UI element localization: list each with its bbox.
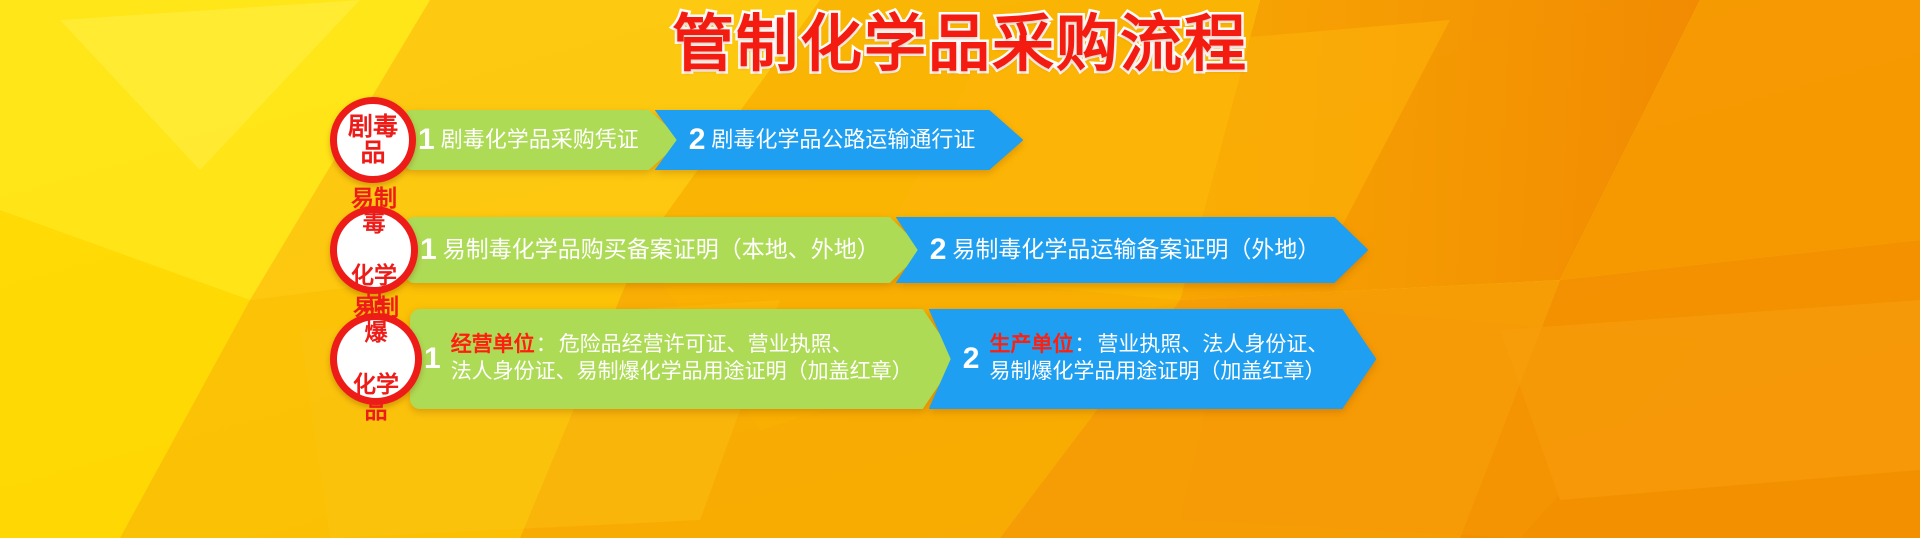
category-badge: 易制爆 化学品: [330, 313, 422, 405]
banner-title-wrap: 管制化学品采购流程: [0, 6, 1920, 84]
badge-line: 剧毒品: [337, 114, 409, 167]
step-number: 2: [930, 235, 947, 265]
step-line-2: 法人身份证、易制爆化学品用途证明（加盖红章）: [451, 359, 913, 386]
step-line-1: 生产单位：营业执照、法人身份证、: [989, 332, 1328, 359]
lead-separator: ：: [536, 333, 557, 356]
step-lead-label: 经营单位: [451, 333, 535, 356]
step-track: 1 经营单位：危险品经营许可证、营业执照、 法人身份证、易制爆化学品用途证明（加…: [410, 309, 1376, 409]
badge-line: 易制毒: [341, 186, 407, 238]
step-text: 剧毒化学品采购凭证: [441, 126, 639, 154]
flow-row-toxic: 剧毒品 1 剧毒化学品采购凭证 2 剧毒化学品公路运输通行证: [330, 104, 1023, 176]
step-line: 易制毒化学品运输备案证明（外地）: [952, 235, 1320, 264]
step-text: 易制毒化学品运输备案证明（外地）: [952, 235, 1320, 264]
step-line-text: 危险品经营许可证、营业执照、: [559, 333, 853, 356]
step-2[interactable]: 2 生产单位：营业执照、法人身份证、 易制爆化学品用途证明（加盖红章）: [929, 309, 1377, 409]
step-number: 1: [418, 125, 435, 155]
flow-row-drug-precursor: 易制毒 化学品 1 易制毒化学品购买备案证明（本地、外地） 2 易制毒化学品运输…: [330, 210, 1368, 290]
step-text: 生产单位：营业执照、法人身份证、 易制爆化学品用途证明（加盖红章）: [989, 332, 1328, 386]
step-text: 经营单位：危险品经营许可证、营业执照、 法人身份证、易制爆化学品用途证明（加盖红…: [451, 332, 913, 386]
step-number: 1: [420, 235, 437, 265]
step-number: 2: [963, 344, 980, 374]
infographic-banner: 管制化学品采购流程 剧毒品 1 剧毒化学品采购凭证 2 剧毒化学品公路运输通行证: [0, 0, 1920, 538]
step-1[interactable]: 1 易制毒化学品购买备案证明（本地、外地）: [406, 217, 924, 283]
step-lead-label: 生产单位: [989, 333, 1073, 356]
step-line-text: 营业执照、法人身份证、: [1097, 333, 1328, 356]
step-number: 1: [424, 344, 441, 374]
category-badge: 剧毒品: [330, 97, 416, 183]
badge-line: 化学品: [341, 372, 411, 424]
step-number: 2: [689, 125, 706, 155]
category-badge: 易制毒 化学品: [330, 206, 418, 294]
step-track: 1 易制毒化学品购买备案证明（本地、外地） 2 易制毒化学品运输备案证明（外地）: [406, 217, 1368, 283]
step-line: 剧毒化学品公路运输通行证: [711, 126, 975, 154]
badge-text: 易制爆 化学品: [337, 295, 415, 424]
step-line-1: 经营单位：危险品经营许可证、营业执照、: [451, 332, 913, 359]
flow-row-explosive-precursor: 易制爆 化学品 1 经营单位：危险品经营许可证、营业执照、 法人身份证、易制爆化…: [330, 305, 1376, 413]
page-title: 管制化学品采购流程: [672, 6, 1248, 84]
step-line-2: 易制爆化学品用途证明（加盖红章）: [989, 359, 1328, 386]
step-line: 易制毒化学品购买备案证明（本地、外地）: [443, 235, 880, 264]
step-2[interactable]: 2 剧毒化学品公路运输通行证: [655, 110, 1024, 170]
step-line: 剧毒化学品采购凭证: [441, 126, 639, 154]
step-2[interactable]: 2 易制毒化学品运输备案证明（外地）: [896, 217, 1369, 283]
badge-line: 易制爆: [341, 295, 411, 347]
lead-separator: ：: [1074, 333, 1095, 356]
step-1[interactable]: 1 剧毒化学品采购凭证: [404, 110, 683, 170]
step-track: 1 剧毒化学品采购凭证 2 剧毒化学品公路运输通行证: [404, 110, 1023, 170]
step-1[interactable]: 1 经营单位：危险品经营许可证、营业执照、 法人身份证、易制爆化学品用途证明（加…: [410, 309, 957, 409]
step-text: 剧毒化学品公路运输通行证: [711, 126, 975, 154]
step-text: 易制毒化学品购买备案证明（本地、外地）: [443, 235, 880, 264]
